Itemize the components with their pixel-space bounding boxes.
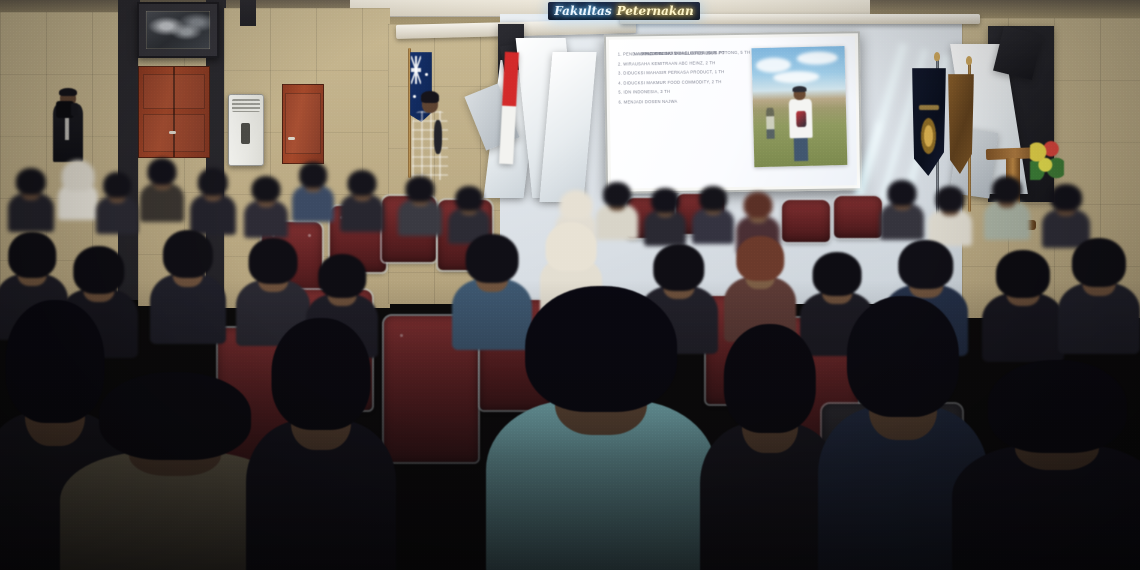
attendee — [150, 230, 226, 340]
attendee-hair — [73, 246, 124, 294]
attendee-hair — [16, 168, 46, 195]
attendee-hair — [898, 240, 953, 289]
attendee-hair — [988, 360, 1127, 453]
attendee-hair — [813, 252, 862, 296]
attendee-hair — [147, 158, 176, 185]
attendee — [1058, 238, 1140, 350]
attendee-hair — [736, 236, 784, 281]
attendee-hair — [1050, 184, 1082, 211]
attendee — [190, 168, 236, 232]
attendee-hair — [455, 186, 483, 211]
attendee-hair — [996, 250, 1050, 298]
attendee-foreground — [952, 360, 1140, 570]
attendee-foreground — [486, 286, 716, 570]
attendee-hair — [651, 188, 679, 213]
attendee-hair — [347, 170, 376, 196]
attendee-hair — [935, 186, 964, 212]
attendee-hair — [8, 232, 56, 278]
attendee-hair — [887, 180, 916, 206]
attendee-hair — [99, 372, 251, 460]
attendee — [724, 236, 796, 338]
attendee — [928, 186, 972, 244]
attendee-hair — [743, 192, 772, 218]
attendee — [644, 188, 686, 244]
attendee-hair — [466, 234, 519, 283]
attendee — [340, 170, 384, 230]
attendee-hair — [405, 176, 434, 202]
attendee — [140, 158, 184, 220]
attendee-hair — [299, 162, 327, 188]
attendee-hijab — [560, 190, 593, 219]
attendee-hair — [318, 254, 366, 298]
attendee-hair — [992, 176, 1022, 203]
attendee-hair — [699, 186, 727, 211]
attendee — [8, 168, 54, 230]
attendee-hair — [1072, 238, 1126, 287]
attendee-foreground — [246, 318, 396, 570]
attendee — [96, 172, 138, 232]
seminar-photo: Fakultas Peternakan NASIRUDDIN SATTAHUL … — [0, 0, 1140, 570]
attendee — [1042, 184, 1090, 246]
attendee-hijab — [546, 222, 597, 271]
attendee-hair — [163, 230, 213, 278]
attendee-hair — [272, 318, 371, 430]
attendee — [58, 160, 98, 218]
attendee-hair — [251, 176, 280, 202]
audience — [0, 0, 1140, 570]
attendee — [984, 176, 1030, 238]
attendee-hair — [724, 324, 816, 433]
attendee-hair — [847, 296, 959, 417]
attendee-hair — [198, 168, 228, 196]
attendee-hair — [103, 172, 131, 198]
attendee — [398, 176, 442, 234]
attendee-hair — [653, 244, 704, 291]
attendee-hijab — [62, 160, 95, 191]
attendee — [880, 180, 924, 238]
attendee-hair — [249, 238, 298, 284]
attendee — [596, 182, 638, 238]
attendee — [244, 176, 288, 236]
attendee-hair — [525, 286, 677, 412]
attendee — [292, 162, 334, 220]
attendee — [692, 186, 734, 242]
attendee-hair — [603, 182, 631, 207]
attendee — [982, 250, 1064, 358]
